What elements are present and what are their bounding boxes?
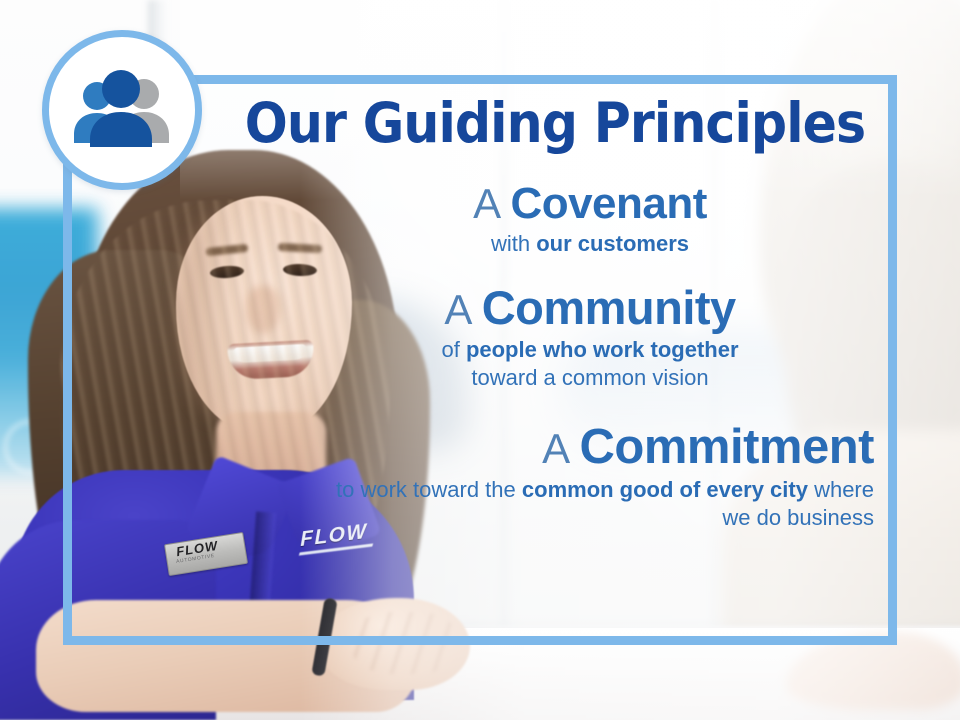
principle-commitment-sub-line2: we do business: [300, 504, 874, 532]
principle-covenant-heading: A Covenant: [300, 180, 880, 228]
principle-commitment-keyword: Commitment: [580, 420, 874, 474]
principle-community-sub-bold: people who work together: [466, 337, 739, 362]
guiding-principles-banner: FLOW FLOW AUTOMOTIVE: [0, 0, 960, 720]
principle-covenant-keyword: Covenant: [510, 179, 706, 228]
principle-commitment-heading: A Commitment: [300, 421, 874, 474]
banner-title: Our Guiding Principles: [245, 96, 861, 151]
principle-commitment-lead: A: [542, 425, 579, 472]
people-group-badge: [42, 30, 202, 190]
principle-covenant-sub-bold: our customers: [536, 231, 689, 256]
principle-community-heading: A Community: [300, 283, 880, 334]
principle-community-sub-pre: of: [441, 337, 465, 362]
principle-covenant-subtext: with our customers: [300, 230, 880, 258]
principle-commitment-sub-pre: to work toward the: [336, 477, 522, 502]
principle-community-lead: A: [444, 286, 481, 333]
principle-commitment-sub-post: where: [808, 477, 874, 502]
principle-covenant: A Covenant with our customers: [300, 180, 880, 257]
principle-covenant-lead: A: [473, 180, 510, 227]
principles-list: A Covenant with our customers A Communit…: [300, 180, 880, 538]
principle-covenant-sub-pre: with: [491, 231, 536, 256]
principle-commitment-subtext: to work toward the common good of every …: [300, 476, 874, 531]
principle-community-keyword: Community: [482, 281, 736, 334]
people-group-icon: [66, 68, 178, 152]
principle-commitment-sub-bold: common good of every city: [522, 477, 808, 502]
principle-community-sub-line2: toward a common vision: [300, 364, 880, 392]
principle-community-subtext: of people who work together toward a com…: [300, 336, 880, 391]
principle-commitment: A Commitment to work toward the common g…: [300, 421, 880, 531]
subject-finger-detail: [352, 612, 458, 674]
principle-community: A Community of people who work together …: [300, 283, 880, 391]
